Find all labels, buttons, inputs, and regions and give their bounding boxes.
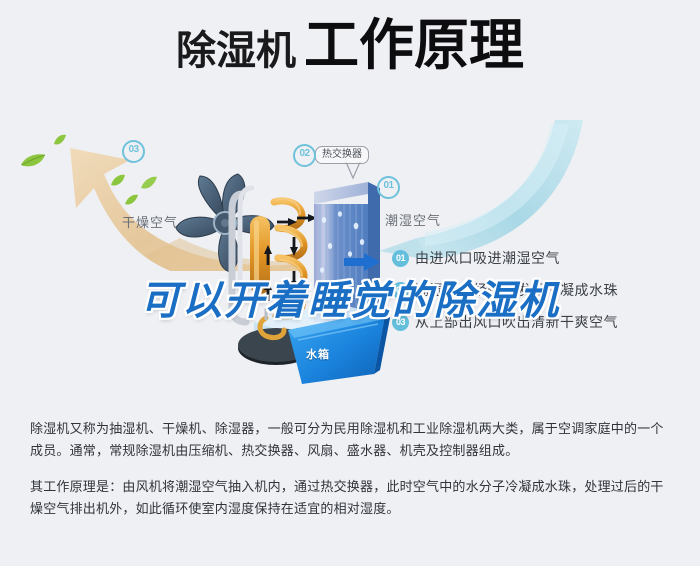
infographic-page: 除湿机工作原理 xyxy=(0,0,700,566)
leaf-icon xyxy=(140,176,158,190)
callout-stem-icon xyxy=(344,162,362,184)
leaf-icon xyxy=(20,153,46,169)
step-label: 由进风口吸进潮湿空气 xyxy=(415,248,560,268)
leaf-icon xyxy=(110,174,126,187)
leaf-icon xyxy=(124,194,139,206)
heat-exchanger-callout: 热交换器 xyxy=(315,146,369,164)
badge-03-dry-air: 03 xyxy=(122,140,145,163)
watermark-overlay-text: 可以开着睡觉的除湿机 xyxy=(0,268,700,326)
page-title-prefix: 除湿机 xyxy=(176,29,296,73)
dry-air-label: 干燥空气 xyxy=(122,212,178,231)
page-title: 除湿机工作原理 xyxy=(0,18,700,73)
leaf-icon xyxy=(53,134,67,146)
description-paragraph-1: 除湿机又称为抽湿机、干燥机、除湿器，一般可分为民用除湿机和工业除湿机两大类，属于… xyxy=(30,418,675,462)
step-number-badge: 01 xyxy=(392,250,409,267)
badge-01-humid-air: 01 xyxy=(377,176,400,199)
description-paragraph-2: 其工作原理是：由风机将潮湿空气抽入机内，通过热交换器，此时空气中的水分子冷凝成水… xyxy=(30,476,675,520)
water-tank-label: 水箱 xyxy=(306,346,330,362)
humid-air-label: 潮湿空气 xyxy=(385,210,441,229)
description-text-block: 除湿机又称为抽湿机、干燥机、除湿器，一般可分为民用除湿机和工业除湿机两大类，属于… xyxy=(30,418,675,520)
page-title-main: 工作原理 xyxy=(304,14,524,76)
badge-02-heat-exchanger: 02 xyxy=(293,144,316,167)
